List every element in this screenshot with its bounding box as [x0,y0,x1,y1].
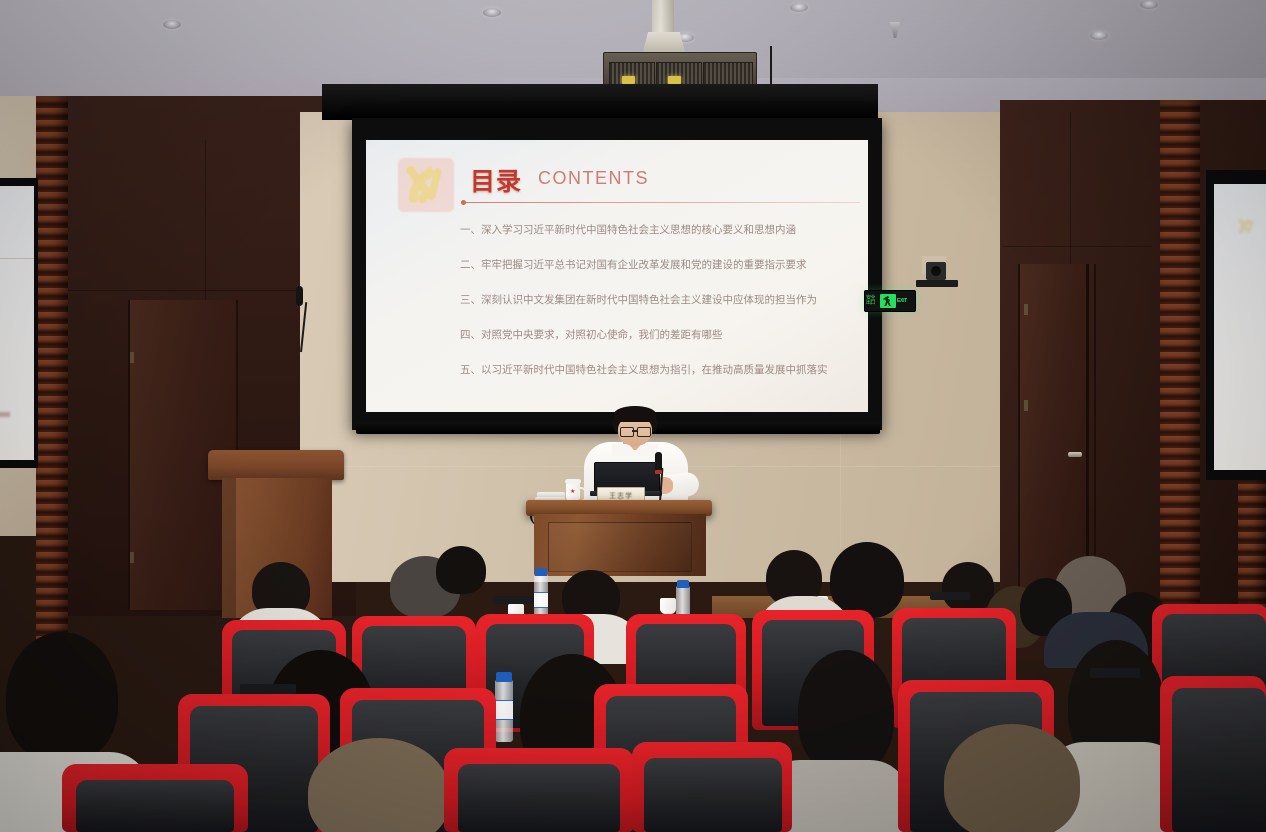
seat-tablet-arm [1090,668,1140,678]
door-handle-right[interactable] [1068,452,1082,457]
audience-head [436,546,486,594]
running-man-icon [880,294,896,308]
side-screen-left-rule [0,258,34,259]
ceiling-downlight [163,20,181,29]
slide-title-cn: 目录 [470,162,522,198]
ceiling-downlight [1140,0,1158,9]
speaker-glasses-left-lens [620,427,634,437]
speaker-glasses-bridge [632,430,637,432]
slide-item-1: 一、深入学习习近平新时代中国特色社会主义思想的核心要义和思想内涵 [460,222,796,237]
lectern-shadow [222,478,236,618]
water-bottle-cap [535,568,547,576]
side-screen-left-text [0,412,10,417]
speaker-hair-top [614,406,656,422]
side-screen-right-emblem [1234,212,1264,242]
exit-sign-label-en: EXIT [896,298,908,304]
title-divider [464,202,860,203]
projector-pole [652,0,674,36]
auditorium-seat-back [76,780,234,832]
ceiling-downlight [790,3,808,12]
ceiling-downlight [1090,31,1108,40]
audience-head [830,542,904,618]
water-bottle-cap [496,672,512,682]
water-bottle-label [534,592,548,608]
seat-tablet-arm [930,592,970,600]
door-hinge [1024,304,1028,315]
auditorium-seat-back [458,764,620,832]
side-screen-left [0,186,34,460]
door-hinge [130,352,134,363]
slide-item-4: 四、对照党中央要求，对照初心使命，我们的差距有哪些 [460,327,723,342]
slide-item-3: 三、深刻认识中文发集团在新时代中国特色社会主义建设中应体现的担当作为 [460,292,817,307]
screen-housing [322,84,878,120]
exit-sign-label-cn: 安全出口 [865,296,880,306]
presentation-slide: 目录 CONTENTS 一、深入学习习近平新时代中国特色社会主义思想的核心要义和… [366,140,868,412]
wood-slat-column-left [36,96,68,656]
slide-item-2: 二、牢牢把握习近平总书记对国有企业改革发展和党的建设的重要指示要求 [460,257,807,272]
water-bottle-cap [677,580,689,588]
lectern-top [208,450,344,480]
door-right[interactable] [1018,264,1096,594]
wood-slat-column-right [1160,100,1200,640]
cpc-emblem-icon [396,154,458,216]
audience-head [798,650,894,774]
mug-emblem: ★ [570,488,575,495]
mug-lid [565,479,581,484]
audience-head [6,632,118,762]
door-hinge [130,552,134,563]
door-hinge [1024,400,1028,411]
projector-indicator-lamp [668,76,681,84]
audience-head [942,562,994,612]
auditorium-seat-back [644,758,782,832]
lectern-mic-head [296,286,303,306]
speaker-glasses-right-lens [637,427,651,437]
slide-title-en: CONTENTS [538,168,649,189]
camera-shelf [916,280,958,287]
desk-mic-head [655,452,662,472]
projector-mount [643,32,685,52]
panel-seam [1002,246,1152,247]
title-divider-dot [461,200,466,205]
door-gap [1086,264,1089,594]
exit-sign: 安全出口 EXIT [864,290,916,312]
auditorium-seat-back [1172,688,1266,832]
seat-tablet-arm [494,596,534,604]
water-bottle-label [495,700,513,720]
projector-indicator-lamp [622,76,635,84]
audience-head [944,724,1080,832]
conference-room-photo: 目录 CONTENTS 一、深入学习习近平新时代中国特色社会主义思想的核心要义和… [0,0,1266,832]
seat-tablet-arm [240,684,296,694]
ceiling-downlight [483,8,501,17]
slide-item-5: 五、以习近平新时代中国特色社会主义思想为指引，在推动高质量发展中抓落实 [460,362,828,377]
camera-lens-icon [931,266,941,276]
audience-cup [660,598,676,614]
speaker-desk-panel [548,522,692,572]
desk-mic-indicator [655,470,662,474]
